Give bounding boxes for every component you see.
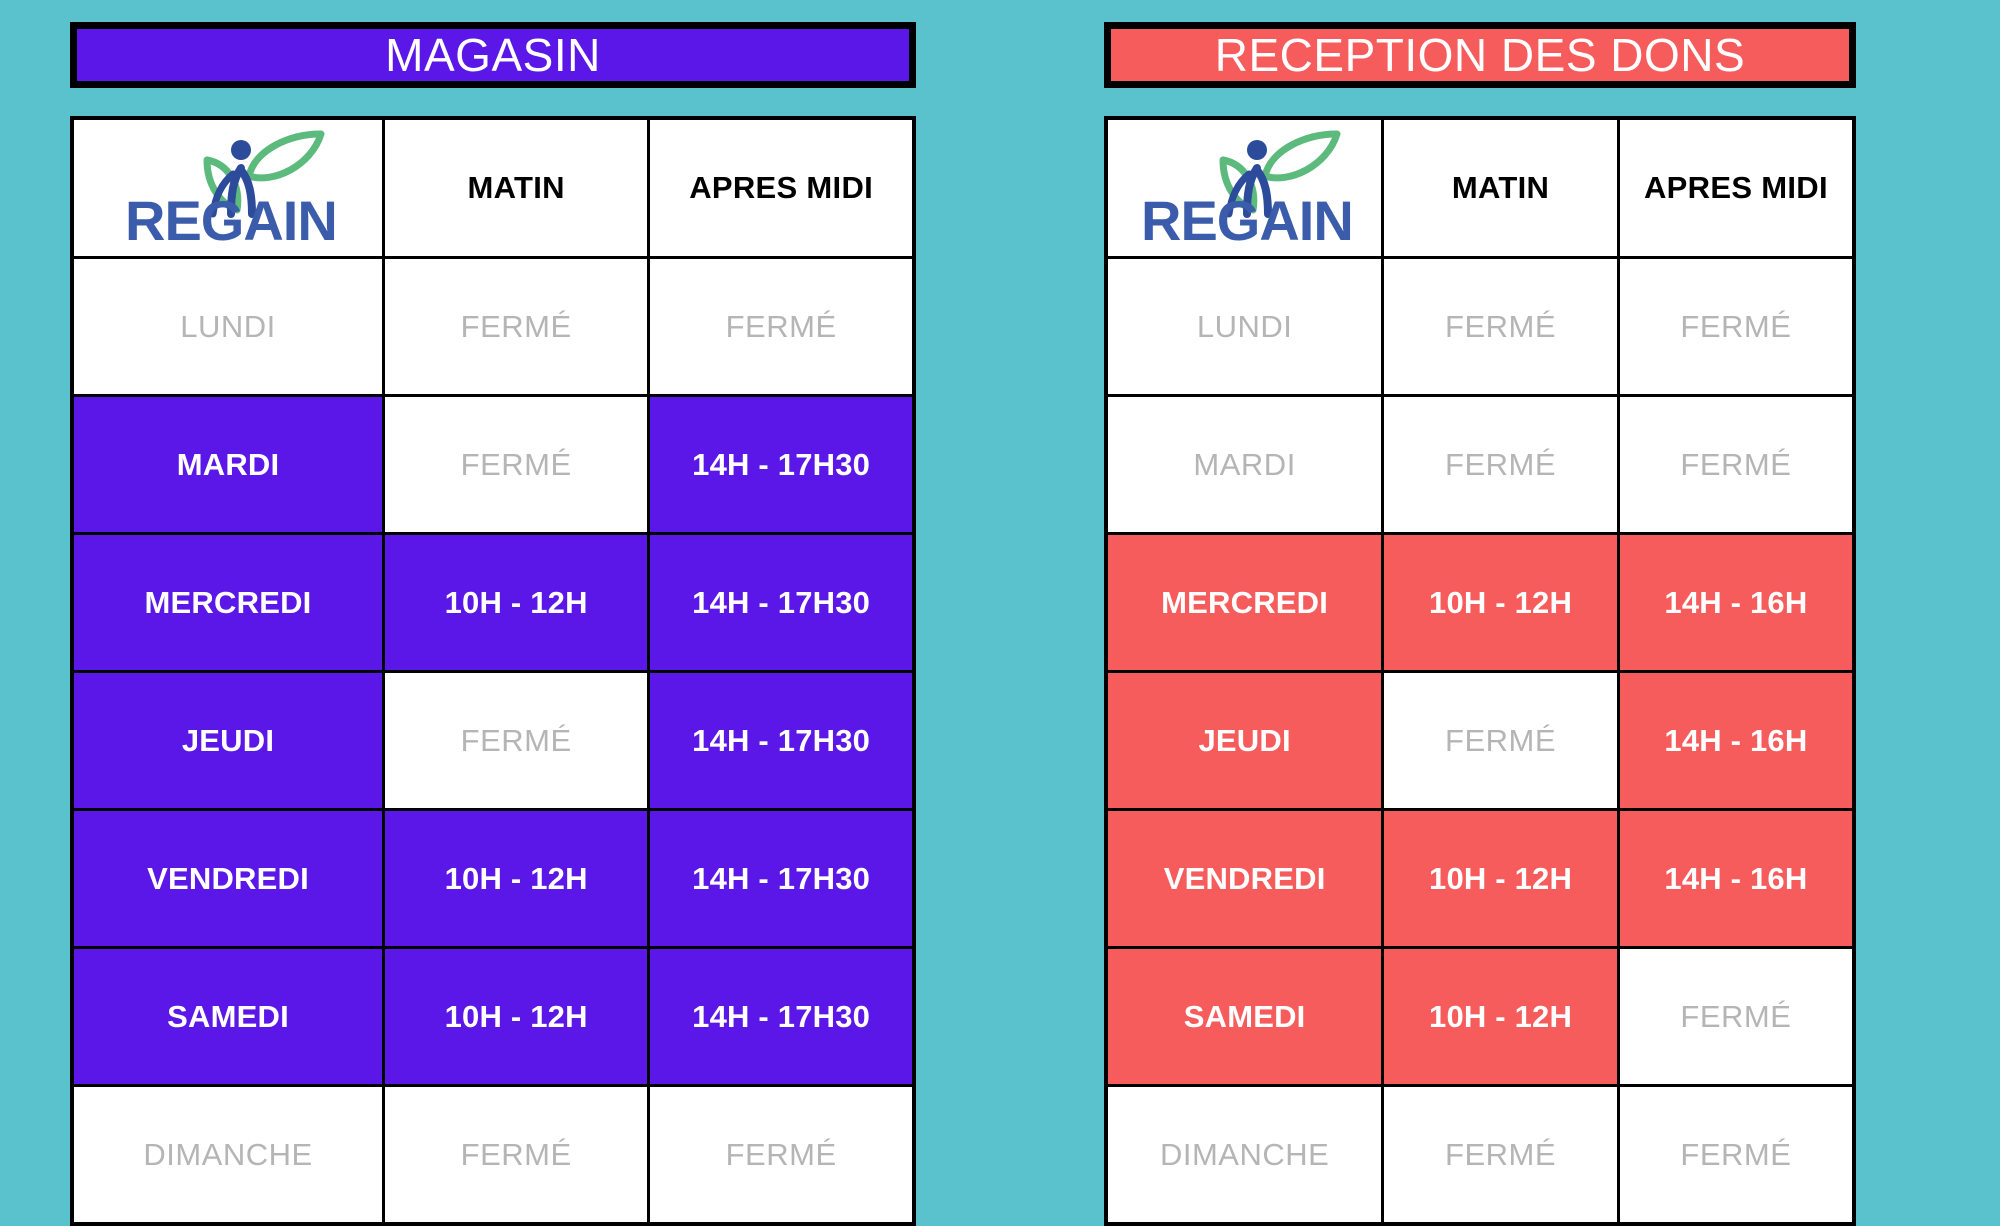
opening-hours-poster: MAGASIN REGAINMATINAPRES MIDILUNDIFERMÉF… [0, 0, 2000, 1223]
column-header-matin: MATIN [384, 118, 649, 258]
day-cell: SAMEDI [1106, 948, 1383, 1086]
day-cell: MERCREDI [1106, 534, 1383, 672]
day-cell: DIMANCHE [1106, 1086, 1383, 1225]
matin-cell-label: FERMÉ [385, 311, 647, 342]
day-cell-label: MERCREDI [74, 587, 382, 618]
matin-cell: FERMÉ [384, 1086, 649, 1225]
apres-midi-cell: FERMÉ [649, 1086, 914, 1225]
apres-midi-cell-label: FERMÉ [1620, 311, 1852, 342]
column-header-matin: MATIN [1383, 118, 1619, 258]
table-row: DIMANCHEFERMÉFERMÉ [1106, 1086, 1854, 1225]
table-header-row: REGAINMATINAPRES MIDI [1106, 118, 1854, 258]
apres-midi-cell: FERMÉ [1618, 1086, 1854, 1225]
day-cell: MERCREDI [72, 534, 384, 672]
apres-midi-cell: 14H - 16H [1618, 534, 1854, 672]
column-header-label: APRES MIDI [1644, 170, 1828, 205]
panel-dons: RECEPTION DES DONS REGAINMATINAPRES MIDI… [1104, 22, 1856, 1226]
apres-midi-cell-label: 14H - 16H [1620, 725, 1852, 756]
table-row: JEUDIFERMÉ14H - 16H [1106, 672, 1854, 810]
apres-midi-cell: FERMÉ [649, 258, 914, 396]
day-cell: LUNDI [72, 258, 384, 396]
regain-logo: REGAIN [121, 128, 336, 248]
schedule-table-magasin: REGAINMATINAPRES MIDILUNDIFERMÉFERMÉMARD… [70, 116, 916, 1226]
day-cell-label: DIMANCHE [74, 1139, 382, 1170]
matin-cell-label: FERMÉ [385, 1139, 647, 1170]
column-header-label: MATIN [1452, 170, 1549, 205]
table-row: VENDREDI10H - 12H14H - 17H30 [72, 810, 914, 948]
apres-midi-cell-label: FERMÉ [1620, 1139, 1852, 1170]
matin-cell: FERMÉ [384, 396, 649, 534]
svg-text:REGAIN: REGAIN [125, 189, 336, 248]
apres-midi-cell-label: 14H - 17H30 [650, 863, 912, 894]
matin-cell: FERMÉ [384, 258, 649, 396]
day-cell-label: DIMANCHE [1108, 1139, 1381, 1170]
matin-cell-label: 10H - 12H [385, 587, 647, 618]
matin-cell: FERMÉ [1383, 1086, 1619, 1225]
matin-cell-label: 10H - 12H [1384, 587, 1617, 618]
apres-midi-cell: 14H - 17H30 [649, 396, 914, 534]
apres-midi-cell: 14H - 17H30 [649, 534, 914, 672]
matin-cell: FERMÉ [384, 672, 649, 810]
apres-midi-cell-label: 14H - 16H [1620, 863, 1852, 894]
matin-cell-label: 10H - 12H [385, 1001, 647, 1032]
matin-cell-label: 10H - 12H [385, 863, 647, 894]
column-header-apres-midi: APRES MIDI [649, 118, 914, 258]
matin-cell-label: FERMÉ [1384, 449, 1617, 480]
apres-midi-cell: 14H - 16H [1618, 810, 1854, 948]
table-row: LUNDIFERMÉFERMÉ [72, 258, 914, 396]
apres-midi-cell: FERMÉ [1618, 948, 1854, 1086]
day-cell-label: VENDREDI [1108, 863, 1381, 894]
apres-midi-cell: 14H - 17H30 [649, 948, 914, 1086]
apres-midi-cell-label: FERMÉ [1620, 1001, 1852, 1032]
apres-midi-cell: FERMÉ [1618, 396, 1854, 534]
table-row: MERCREDI10H - 12H14H - 17H30 [72, 534, 914, 672]
matin-cell-label: FERMÉ [1384, 1139, 1617, 1170]
matin-cell: 10H - 12H [1383, 810, 1619, 948]
matin-cell: 10H - 12H [384, 810, 649, 948]
banner-title: MAGASIN [385, 32, 601, 78]
column-header-apres-midi: APRES MIDI [1618, 118, 1854, 258]
apres-midi-cell-label: FERMÉ [650, 1139, 912, 1170]
matin-cell: FERMÉ [1383, 258, 1619, 396]
apres-midi-cell-label: 14H - 17H30 [650, 449, 912, 480]
table-row: MERCREDI10H - 12H14H - 16H [1106, 534, 1854, 672]
apres-midi-cell-label: 14H - 17H30 [650, 587, 912, 618]
banner-title: RECEPTION DES DONS [1215, 32, 1745, 78]
matin-cell-label: 10H - 12H [1384, 863, 1617, 894]
table-row: SAMEDI10H - 12HFERMÉ [1106, 948, 1854, 1086]
day-cell-label: MERCREDI [1108, 587, 1381, 618]
matin-cell-label: FERMÉ [385, 449, 647, 480]
apres-midi-cell: FERMÉ [1618, 258, 1854, 396]
svg-text:REGAIN: REGAIN [1141, 189, 1352, 248]
schedule-table-dons: REGAINMATINAPRES MIDILUNDIFERMÉFERMÉMARD… [1104, 116, 1856, 1226]
day-cell: JEUDI [72, 672, 384, 810]
logo-cell: REGAIN [1106, 118, 1383, 258]
day-cell: VENDREDI [72, 810, 384, 948]
day-cell-label: SAMEDI [74, 1001, 382, 1032]
apres-midi-cell: 14H - 17H30 [649, 672, 914, 810]
day-cell-label: JEUDI [74, 725, 382, 756]
day-cell: DIMANCHE [72, 1086, 384, 1225]
regain-logo: REGAIN [1137, 128, 1352, 248]
apres-midi-cell: 14H - 17H30 [649, 810, 914, 948]
matin-cell: FERMÉ [1383, 396, 1619, 534]
banner-magasin: MAGASIN [70, 22, 916, 88]
day-cell: VENDREDI [1106, 810, 1383, 948]
day-cell: MARDI [1106, 396, 1383, 534]
apres-midi-cell-label: 14H - 17H30 [650, 1001, 912, 1032]
column-header-label: MATIN [467, 170, 564, 205]
matin-cell-label: FERMÉ [385, 725, 647, 756]
table-row: LUNDIFERMÉFERMÉ [1106, 258, 1854, 396]
table-row: DIMANCHEFERMÉFERMÉ [72, 1086, 914, 1225]
matin-cell-label: FERMÉ [1384, 311, 1617, 342]
apres-midi-cell-label: FERMÉ [650, 311, 912, 342]
matin-cell: FERMÉ [1383, 672, 1619, 810]
banner-dons: RECEPTION DES DONS [1104, 22, 1856, 88]
column-header-label: APRES MIDI [689, 170, 873, 205]
matin-cell: 10H - 12H [384, 534, 649, 672]
table-row: SAMEDI10H - 12H14H - 17H30 [72, 948, 914, 1086]
schedule-body: REGAINMATINAPRES MIDILUNDIFERMÉFERMÉMARD… [72, 118, 914, 1224]
day-cell-label: SAMEDI [1108, 1001, 1381, 1032]
day-cell: LUNDI [1106, 258, 1383, 396]
panel-magasin: MAGASIN REGAINMATINAPRES MIDILUNDIFERMÉF… [70, 22, 916, 1226]
day-cell-label: JEUDI [1108, 725, 1381, 756]
table-row: VENDREDI10H - 12H14H - 16H [1106, 810, 1854, 948]
table-row: JEUDIFERMÉ14H - 17H30 [72, 672, 914, 810]
day-cell-label: MARDI [1108, 449, 1381, 480]
apres-midi-cell-label: FERMÉ [1620, 449, 1852, 480]
logo-cell: REGAIN [72, 118, 384, 258]
day-cell: SAMEDI [72, 948, 384, 1086]
apres-midi-cell-label: 14H - 17H30 [650, 725, 912, 756]
table-header-row: REGAINMATINAPRES MIDI [72, 118, 914, 258]
day-cell-label: LUNDI [1108, 311, 1381, 342]
table-row: MARDIFERMÉFERMÉ [1106, 396, 1854, 534]
day-cell-label: MARDI [74, 449, 382, 480]
matin-cell: 10H - 12H [1383, 534, 1619, 672]
apres-midi-cell: 14H - 16H [1618, 672, 1854, 810]
matin-cell: 10H - 12H [384, 948, 649, 1086]
matin-cell: 10H - 12H [1383, 948, 1619, 1086]
day-cell-label: VENDREDI [74, 863, 382, 894]
matin-cell-label: FERMÉ [1384, 725, 1617, 756]
schedule-body: REGAINMATINAPRES MIDILUNDIFERMÉFERMÉMARD… [1106, 118, 1854, 1224]
day-cell: MARDI [72, 396, 384, 534]
table-row: MARDIFERMÉ14H - 17H30 [72, 396, 914, 534]
day-cell-label: LUNDI [74, 311, 382, 342]
day-cell: JEUDI [1106, 672, 1383, 810]
matin-cell-label: 10H - 12H [1384, 1001, 1617, 1032]
apres-midi-cell-label: 14H - 16H [1620, 587, 1852, 618]
